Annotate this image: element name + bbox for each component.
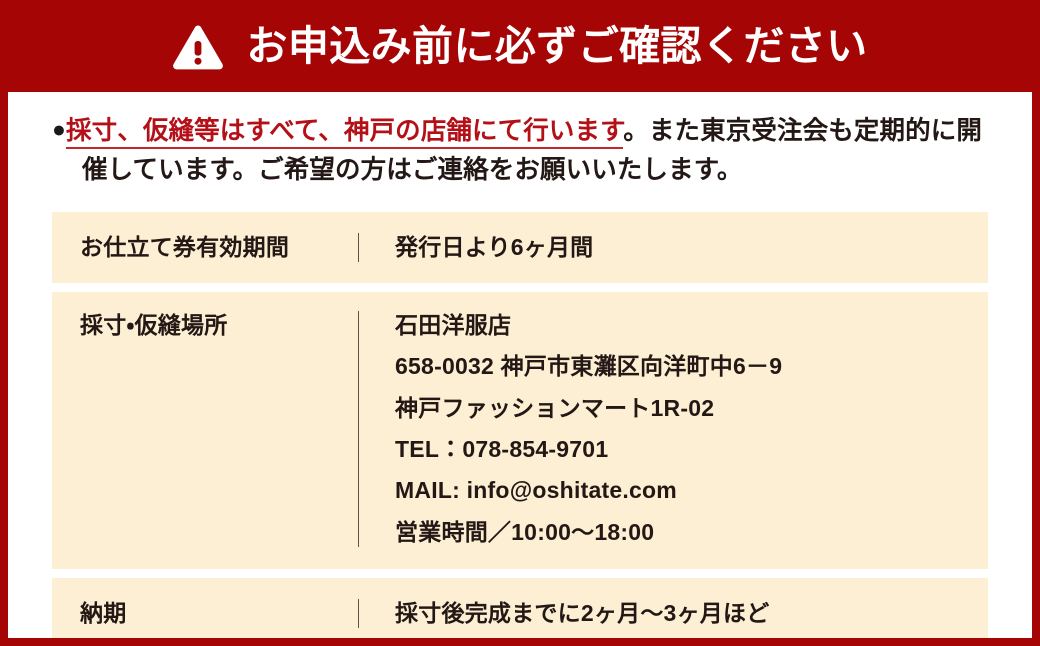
notice-header: お申込み前に必ずご確認ください <box>0 0 1040 92</box>
value-line-building: 神戸ファッションマート1R-02 <box>395 392 988 425</box>
value-line-mail: MAIL: info@oshitate.com <box>395 474 988 507</box>
row-value-fitting-location: 石田洋服店 658-0032 神戸市東灘区向洋町中6－9 神戸ファッションマート… <box>359 309 988 549</box>
row-label-fitting-location: 採寸・仮縫場所 <box>52 309 358 549</box>
value-line: 発行日より6ヶ月間 <box>395 231 988 264</box>
table-row: 採寸・仮縫場所 石田洋服店 658-0032 神戸市東灘区向洋町中6－9 神戸フ… <box>52 292 988 569</box>
row-label-validity-period: お仕立て券有効期間 <box>52 231 358 264</box>
intro-paragraph: ●採寸、仮縫等はすべて、神戸の店舗にて行います。また東京受注会も定期的に開催して… <box>52 112 988 190</box>
bullet-icon: ● <box>52 116 66 142</box>
row-value-validity-period: 発行日より6ヶ月間 <box>359 231 988 264</box>
notice-card: お申込み前に必ずご確認ください ●採寸、仮縫等はすべて、神戸の店舗にて行います。… <box>0 0 1040 646</box>
value-line: 採寸後完成までに2ヶ月〜3ヶ月ほど <box>395 597 988 630</box>
notice-header-title: お申込み前に必ずご確認ください <box>246 26 867 67</box>
value-line-business-hours: 営業時間／10:00〜18:00 <box>395 516 988 549</box>
value-line-telephone: TEL：078-854-9701 <box>395 433 988 466</box>
value-line-address: 658-0032 神戸市東灘区向洋町中6－9 <box>395 350 988 383</box>
table-row: お仕立て券有効期間 発行日より6ヶ月間 <box>52 212 988 283</box>
intro-highlighted-text: 採寸、仮縫等はすべて、神戸の店舗にて行います <box>66 117 623 149</box>
intro-block: ●採寸、仮縫等はすべて、神戸の店舗にて行います。また東京受注会も定期的に開催して… <box>8 92 1032 190</box>
row-value-lead-time: 採寸後完成までに2ヶ月〜3ヶ月ほど <box>359 597 988 630</box>
warning-triangle-icon <box>172 24 224 70</box>
row-label-lead-time: 納期 <box>52 597 358 630</box>
value-line-shop-name: 石田洋服店 <box>395 309 988 342</box>
table-row: 納期 採寸後完成までに2ヶ月〜3ヶ月ほど <box>52 578 988 646</box>
info-table: お仕立て券有効期間 発行日より6ヶ月間 採寸・仮縫場所 石田洋服店 658-00… <box>52 212 988 646</box>
